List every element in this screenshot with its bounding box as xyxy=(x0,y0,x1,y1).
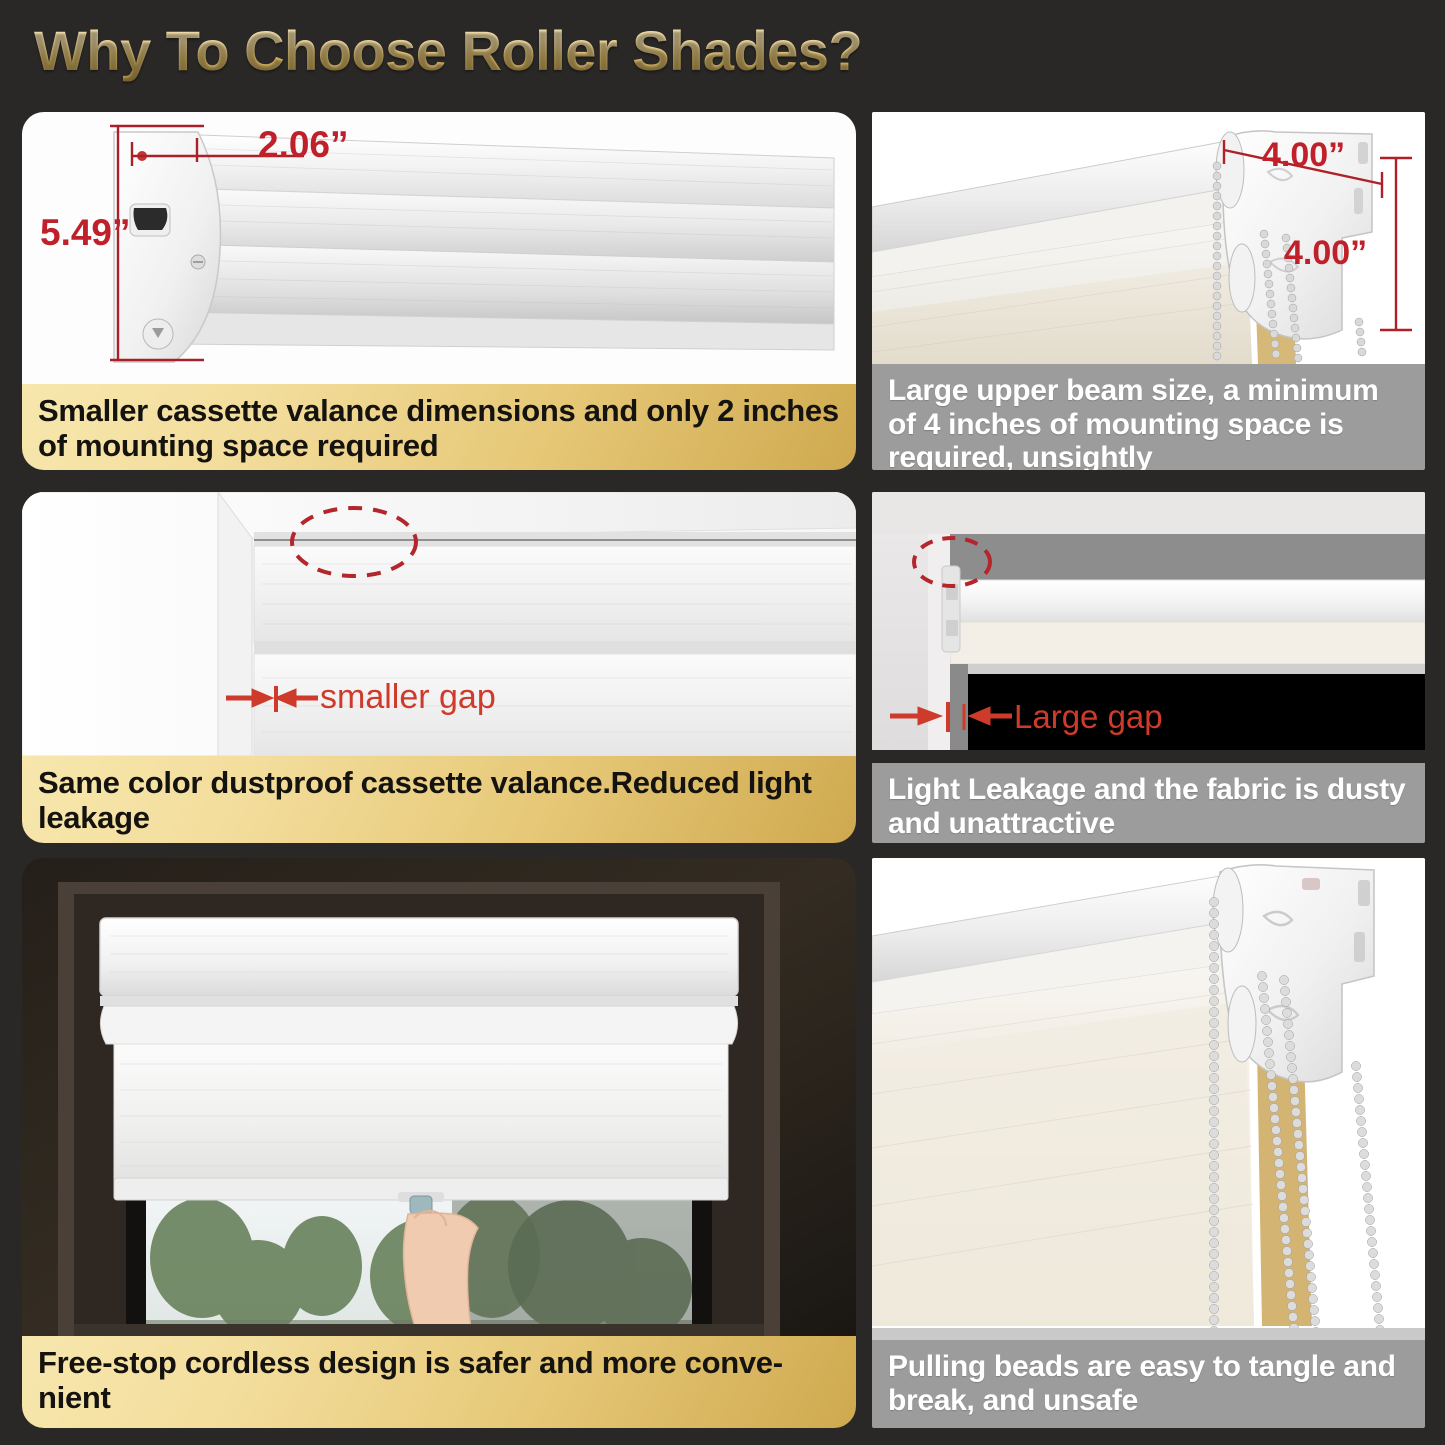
cassette-valance-illustration xyxy=(22,112,856,384)
caption-dustproof-cassette-valance: Same color dustproof cassette valance.Re… xyxy=(22,756,856,843)
cordless-room-photo xyxy=(22,858,856,1336)
width-dimension-label: 2.06” xyxy=(258,124,349,166)
large-gap-label: Large gap xyxy=(1014,698,1163,736)
panel-light-leakage: Large gap Light Leakage and the fabric i… xyxy=(872,492,1425,843)
height-dimension-label: 5.49” xyxy=(40,212,131,254)
caption-large-upper-beam: Large upper beam size, a minimum of 4 in… xyxy=(872,364,1425,470)
large-upper-beam-photo: 4.00” 4.00” xyxy=(872,112,1425,364)
smaller-gap-label: smaller gap xyxy=(320,678,496,717)
panel-cassette-valance-dimensions: 2.06” 5.49” Smaller cassette valance dim… xyxy=(22,112,856,470)
dustproof-valance-photo: smaller gap xyxy=(22,492,856,756)
caption-cassette-valance-dimensions: Smaller cassette valance dimensions and … xyxy=(22,384,856,470)
cordless-room-illustration xyxy=(22,858,856,1336)
light-leakage-photo: Large gap xyxy=(872,492,1425,750)
comparison-grid: 2.06” 5.49” Smaller cassette valance dim… xyxy=(0,0,1445,1445)
cassette-valance-photo: 2.06” 5.49” xyxy=(22,112,856,384)
pulling-beads-illustration xyxy=(872,858,1425,1340)
panel-free-stop-cordless: Free-stop cordless design is safer and m… xyxy=(22,858,856,1428)
panel-large-upper-beam: 4.00” 4.00” Large upper beam size, a min… xyxy=(872,112,1425,470)
beam-width-dimension-label: 4.00” xyxy=(1262,136,1345,175)
panel-pulling-beads: Pulling beads are easy to tangle and bre… xyxy=(872,858,1425,1428)
caption-pulling-beads: Pulling beads are easy to tangle and bre… xyxy=(872,1340,1425,1428)
caption-free-stop-cordless: Free-stop cordless design is safer and m… xyxy=(22,1336,856,1428)
pulling-beads-photo xyxy=(872,858,1425,1340)
caption-light-leakage: Light Leakage and the fabric is dusty an… xyxy=(872,763,1425,843)
beam-height-dimension-label: 4.00” xyxy=(1284,234,1367,273)
panel-dustproof-cassette-valance: smaller gap Same color dustproof cassett… xyxy=(22,492,856,843)
